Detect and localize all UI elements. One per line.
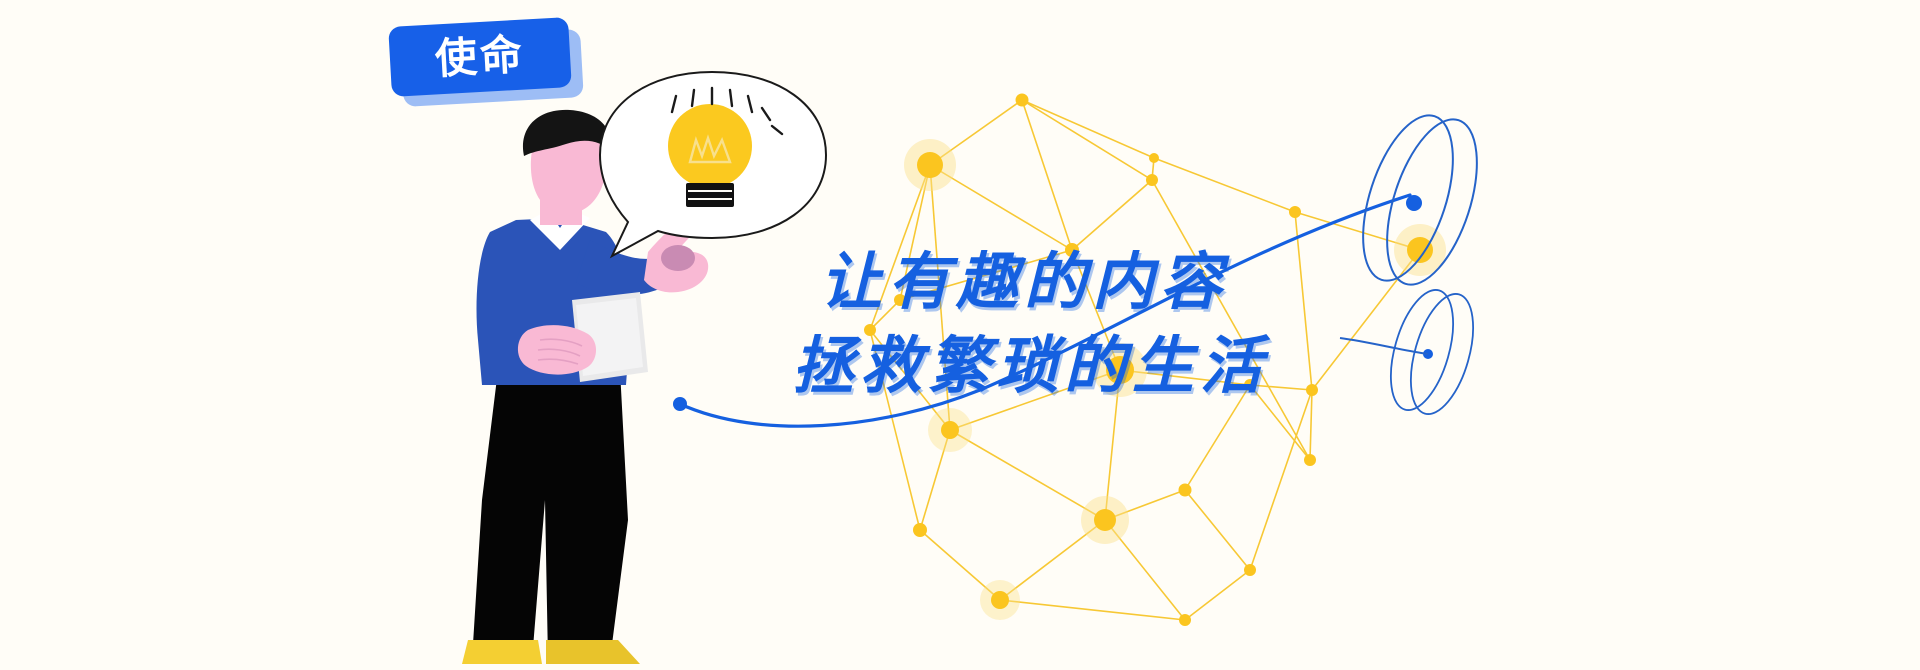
lightbulb-base [686,183,734,207]
mission-banner: 使命 让有趣的内容 拯救繁琐的生活 [0,0,1920,670]
idea-speech-bubble [0,0,1920,670]
